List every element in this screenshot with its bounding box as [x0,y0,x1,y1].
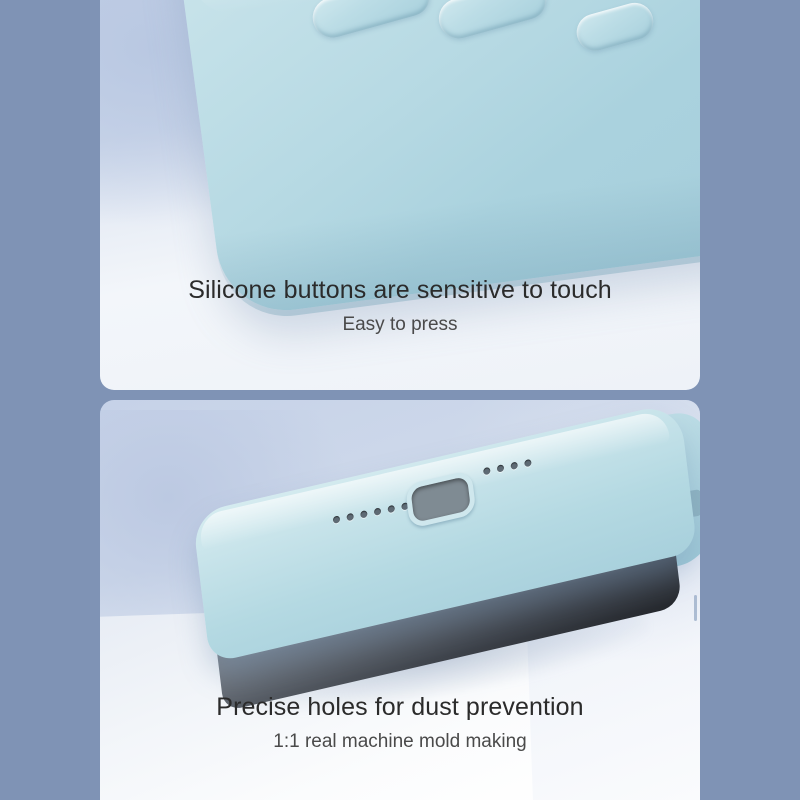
volume-up-button [308,0,434,42]
caption-sub-top: Easy to press [100,314,700,337]
caption-block-top: Silicone buttons are sensitive to touch … [100,275,700,337]
speaker-hole [497,464,504,472]
caption-sub-bottom: 1:1 real machine mold making [100,731,700,754]
caption-main-bottom: Precise holes for dust prevention [100,692,700,722]
speaker-hole [388,505,395,513]
product-image-page: Silicone buttons are sensitive to touch … [0,0,800,800]
volume-down-button [434,0,551,43]
speaker-hole [374,507,381,515]
panel-silicone-buttons: Silicone buttons are sensitive to touch … [100,0,700,390]
speaker-hole [510,462,517,470]
panel-precise-holes: Precise holes for dust prevention 1:1 re… [100,400,700,800]
speaker-hole [360,510,367,518]
speaker-hole [524,459,531,467]
speaker-hole [333,515,340,523]
phone-case-body [170,0,700,319]
panel-divider [0,390,800,400]
caption-block-bottom: Precise holes for dust prevention 1:1 re… [100,692,700,754]
power-button [572,0,657,55]
edge-seam-mark [694,595,697,621]
speaker-hole [483,467,490,475]
caption-main-top: Silicone buttons are sensitive to touch [100,275,700,305]
speaker-hole [346,513,353,521]
